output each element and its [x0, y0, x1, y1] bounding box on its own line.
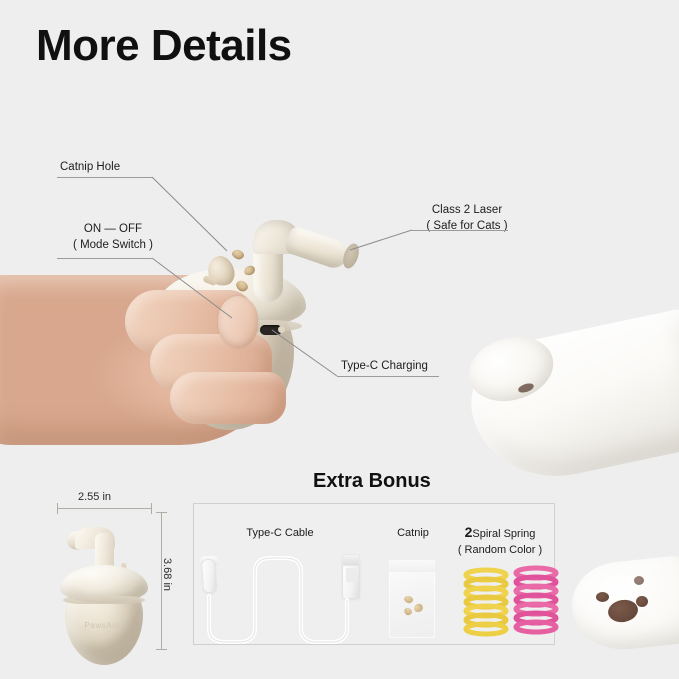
catnip-bag-seal [389, 560, 435, 572]
width-dimension-cap-right [151, 503, 152, 514]
mini-device-seam [63, 596, 145, 604]
width-dimension-label: 2.55 in [78, 491, 111, 503]
bonus-item-spring-name: Spiral Spring [472, 528, 535, 540]
bonus-item-spring-label: 2Spiral Spring ( Random Color ) [452, 523, 548, 558]
bonus-section-title: Extra Bonus [313, 470, 431, 493]
spiral-spring-yellow [462, 567, 510, 639]
height-dimension-cap-bottom [156, 649, 167, 650]
bonus-item-catnip-text: Catnip [397, 527, 429, 539]
bonus-item-spring-note: ( Random Color ) [458, 544, 542, 556]
spiral-spring-pink [512, 565, 560, 639]
product-dimension-view: PawsAura [55, 515, 155, 650]
width-dimension-line [57, 508, 152, 509]
width-dimension-cap-left [57, 503, 58, 514]
brand-logo: PawsAura [75, 621, 135, 630]
height-dimension-label: 3.68 in [161, 558, 173, 591]
usb-cable-wire [193, 500, 393, 648]
height-dimension-cap-top [156, 512, 167, 513]
product-detail-infographic: More Details Catnip Hole [0, 0, 679, 679]
